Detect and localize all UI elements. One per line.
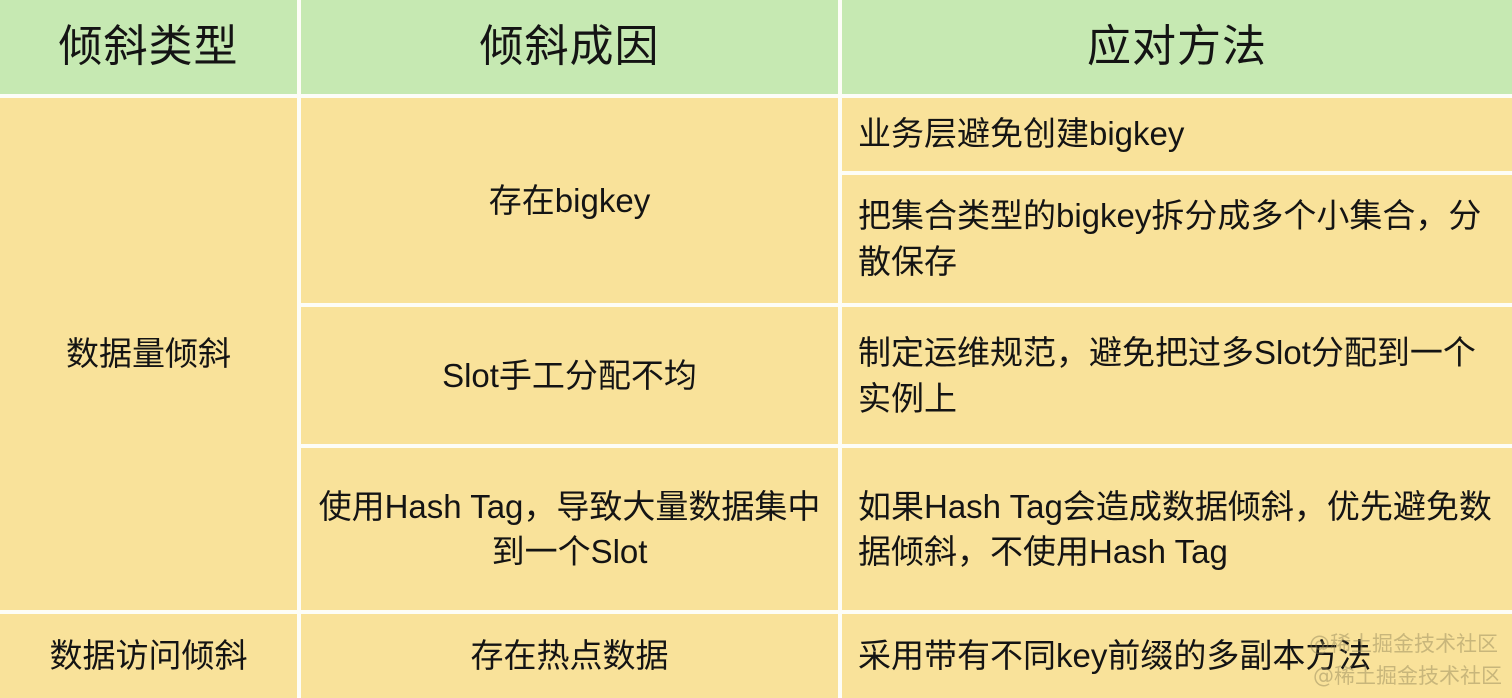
- remedy-label: 把集合类型的bigkey拆分成多个小集合，分散保存: [842, 187, 1512, 290]
- column-header-remedy: 应对方法: [840, 0, 1512, 96]
- cell-remedy-split-bigkey: 把集合类型的bigkey拆分成多个小集合，分散保存: [840, 173, 1512, 306]
- table-row: 数据量倾斜 存在bigkey 业务层避免创建bigkey: [0, 96, 1512, 173]
- column-header-skew-cause: 倾斜成因: [299, 0, 840, 96]
- table-header: 倾斜类型 倾斜成因 应对方法: [0, 0, 1512, 96]
- skew-type-label: 数据访问倾斜: [0, 627, 297, 685]
- column-header-skew-type: 倾斜类型: [0, 0, 299, 96]
- cell-skew-type-data-volume: 数据量倾斜: [0, 96, 299, 612]
- remedy-label: 业务层避免创建bigkey: [842, 105, 1512, 163]
- cell-cause-hash-tag: 使用Hash Tag，导致大量数据集中到一个Slot: [299, 446, 840, 612]
- cell-remedy-avoid-bigkey: 业务层避免创建bigkey: [840, 96, 1512, 173]
- cell-cause-hot-data: 存在热点数据: [299, 612, 840, 698]
- cell-skew-type-data-access: 数据访问倾斜: [0, 612, 299, 698]
- cause-label: 存在热点数据: [301, 627, 838, 685]
- cause-label: 存在bigkey: [301, 172, 838, 230]
- header-row: 倾斜类型 倾斜成因 应对方法: [0, 0, 1512, 96]
- skew-type-label: 数据量倾斜: [0, 325, 297, 383]
- remedy-label: 如果Hash Tag会造成数据倾斜，优先避免数据倾斜，不使用Hash Tag: [842, 478, 1512, 581]
- cell-remedy-ops-standard: 制定运维规范，避免把过多Slot分配到一个实例上: [840, 305, 1512, 446]
- remedy-label: 制定运维规范，避免把过多Slot分配到一个实例上: [842, 324, 1512, 427]
- cell-remedy-key-prefix-replicas: 采用带有不同key前缀的多副本方法: [840, 612, 1512, 698]
- cause-label: Slot手工分配不均: [301, 347, 838, 405]
- cell-cause-bigkey: 存在bigkey: [299, 96, 840, 305]
- skew-comparison-table: 倾斜类型 倾斜成因 应对方法 数据量倾斜 存在bigkey 业务层避免创建big…: [0, 0, 1512, 698]
- cause-label: 使用Hash Tag，导致大量数据集中到一个Slot: [301, 478, 838, 581]
- skew-table-container: 倾斜类型 倾斜成因 应对方法 数据量倾斜 存在bigkey 业务层避免创建big…: [0, 0, 1512, 698]
- cell-cause-slot-imbalance: Slot手工分配不均: [299, 305, 840, 446]
- cell-remedy-avoid-hash-tag: 如果Hash Tag会造成数据倾斜，优先避免数据倾斜，不使用Hash Tag: [840, 446, 1512, 612]
- table-body: 数据量倾斜 存在bigkey 业务层避免创建bigkey 把集合类型的bigke…: [0, 96, 1512, 698]
- remedy-label: 采用带有不同key前缀的多副本方法: [842, 627, 1512, 685]
- table-row: 数据访问倾斜 存在热点数据 采用带有不同key前缀的多副本方法: [0, 612, 1512, 698]
